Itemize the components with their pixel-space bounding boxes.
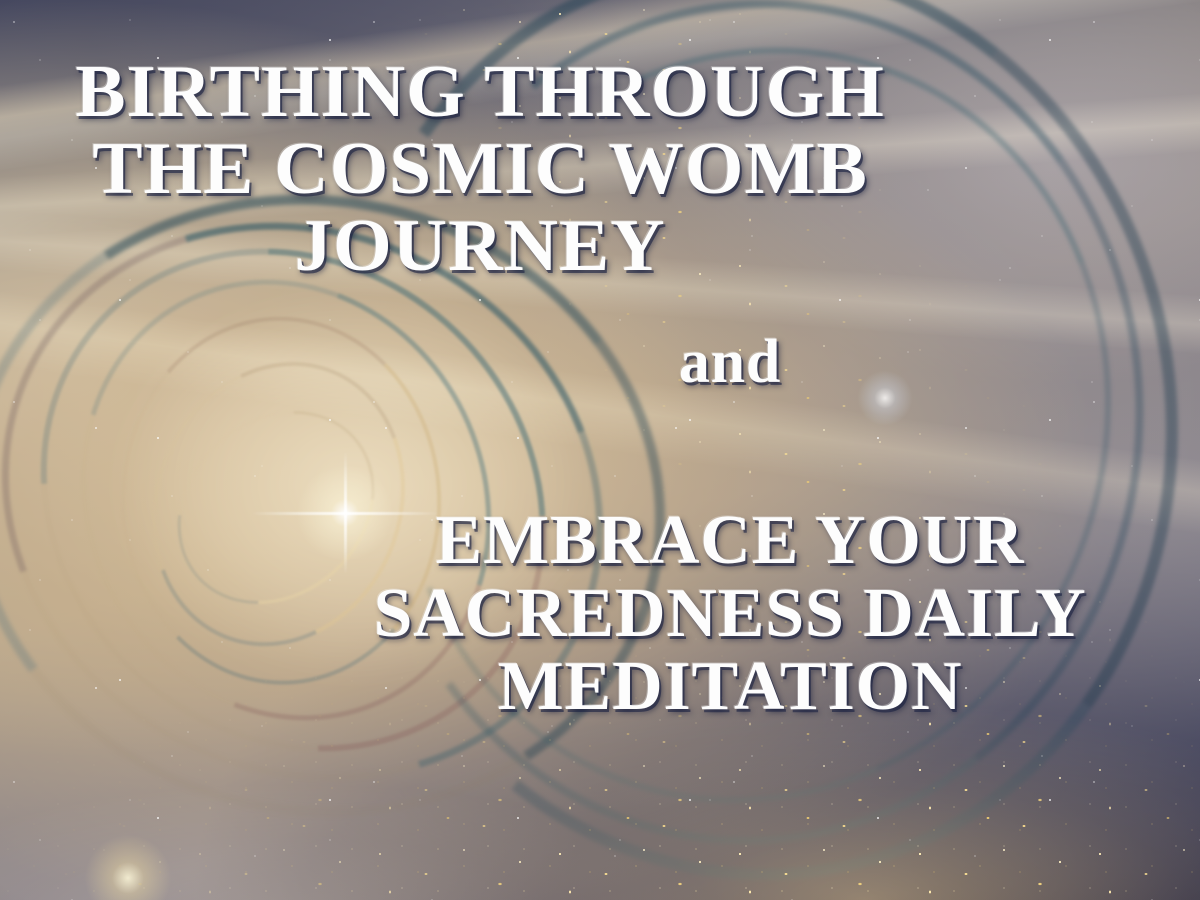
title-line-2: THE COSMIC WOMB xyxy=(0,131,970,208)
title-block: BIRTHING THROUGH THE COSMIC WOMB JOURNEY xyxy=(0,54,960,285)
title-line-3: JOURNEY xyxy=(0,208,970,285)
subtitle-line-1: EMBRACE YOUR xyxy=(260,505,1200,578)
poster-canvas: BIRTHING THROUGH THE COSMIC WOMB JOURNEY… xyxy=(0,0,1200,900)
subtitle-line-2: SACREDNESS DAILY xyxy=(260,578,1200,651)
title-line-1: BIRTHING THROUGH xyxy=(0,54,970,131)
text-layer: BIRTHING THROUGH THE COSMIC WOMB JOURNEY… xyxy=(0,0,1200,900)
connector-text: and xyxy=(560,330,900,394)
subtitle-block: EMBRACE YOUR SACREDNESS DAILY MEDITATION xyxy=(260,505,1200,723)
subtitle-line-3: MEDITATION xyxy=(260,651,1200,724)
